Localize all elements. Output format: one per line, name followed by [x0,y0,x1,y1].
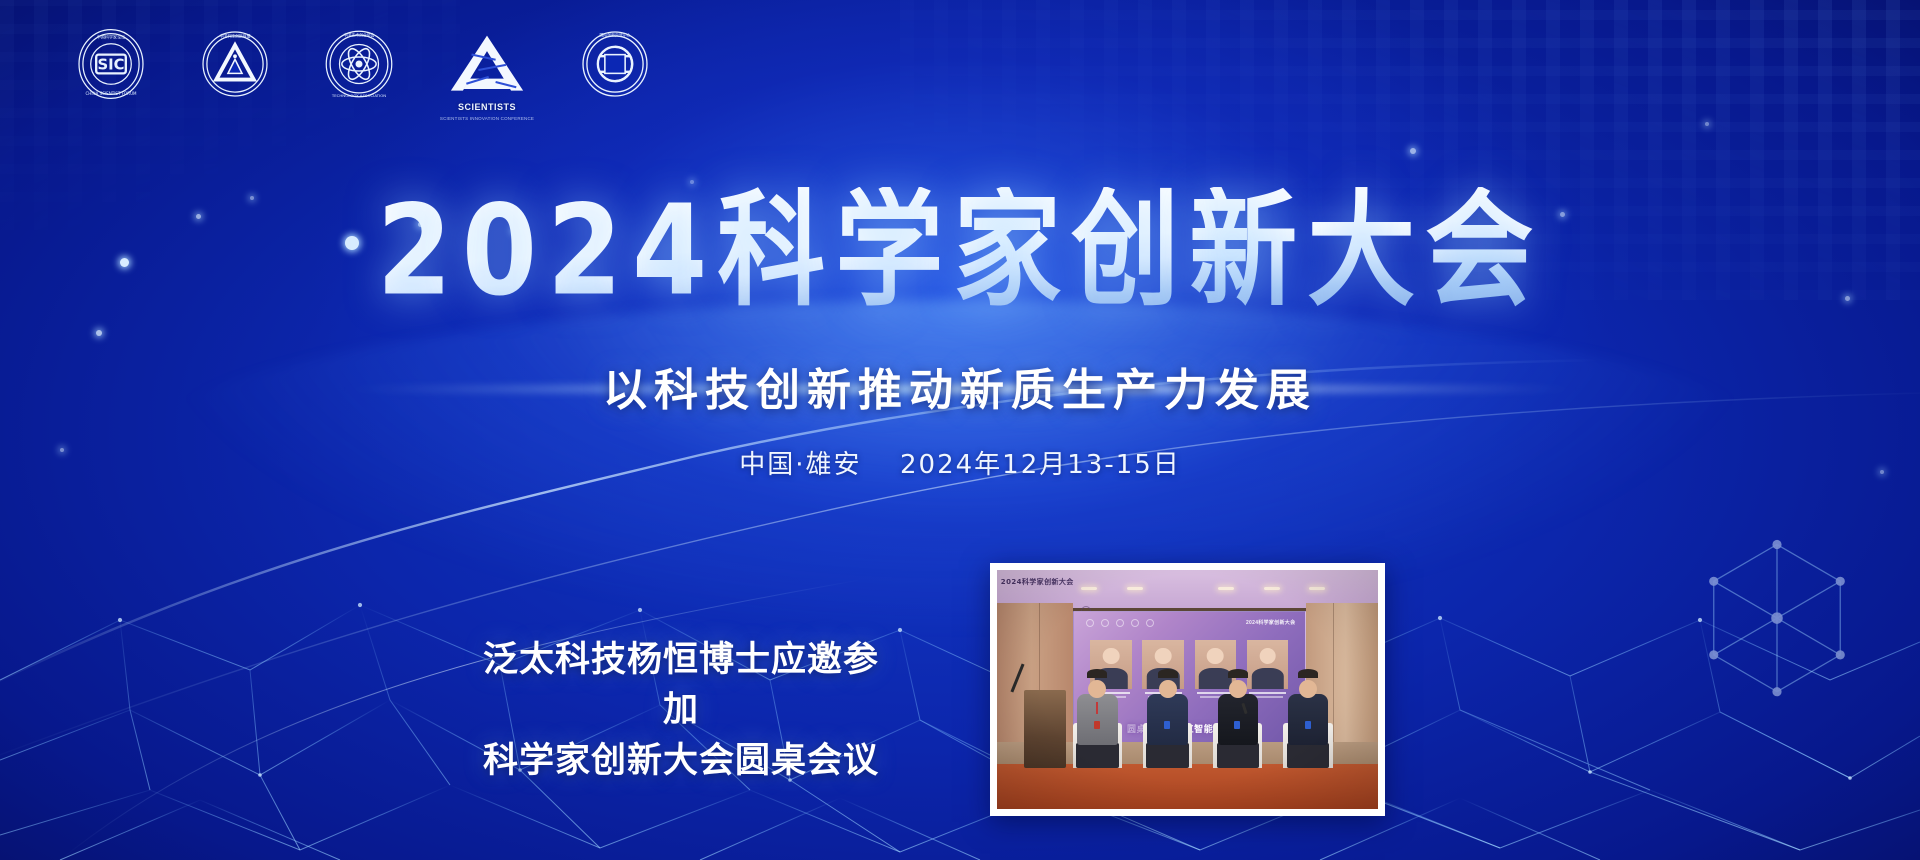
photo-vignette [997,570,1378,809]
roundtable-photo: 2024科学家创新大会 2024科学家创新大会 圆桌讨论：人工智能助力新质 [997,570,1378,809]
event-date: 2024年12月13-15日 [900,450,1181,480]
page-title: 2024科学家创新大会 [371,187,1550,317]
sponsor-wordmark-triangle-icon: SCIENTISTS SCIENTISTS INNOVATION CONFERE… [444,18,530,110]
event-caption: 泛太科技杨恒博士应邀参加 科学家创新大会圆桌会议 [466,636,896,787]
title-block: 2024科学家创新大会 以科技创新推动新质生产力发展 中国·雄安 2024年12… [0,196,1920,481]
svg-text:中国科技创新联盟: 中国科技创新联盟 [219,33,250,38]
conference-banner: SIC 中国科学家论坛 CHINA SCIENTIST FORUM 中国科技创新… [0,0,1920,860]
organizer-seal-atom-icon: 中国技术创业协会 TECHNOLOGY ASSOCIATION [320,25,398,103]
svg-text:CHINA SCIENTIST FORUM: CHINA SCIENTIST FORUM [85,91,137,96]
svg-text:TECHNOLOGY ASSOCIATION: TECHNOLOGY ASSOCIATION [331,93,386,98]
event-meta: 中国·雄安 2024年12月13-15日 [0,444,1920,481]
roundtable-photo-frame: 2024科学家创新大会 2024科学家创新大会 圆桌讨论：人工智能助力新质 [990,563,1385,816]
sponsor-wordmark-label: SCIENTISTS [444,102,530,112]
svg-text:中国科学家论坛: 中国科学家论坛 [97,33,125,39]
svg-text:中国技术创业协会: 中国技术创业协会 [343,33,374,38]
svg-text:SIC: SIC [97,56,124,73]
page-subtitle: 以科技创新推动新质生产力发展 [0,354,1920,418]
event-location: 中国·雄安 [739,450,861,480]
caption-line-1: 泛太科技杨恒博士应邀参加 [466,636,896,735]
organizer-logo-row: SIC 中国科学家论坛 CHINA SCIENTIST FORUM 中国科技创新… [72,18,654,110]
molecule-decoration-icon [1662,510,1892,740]
organizer-seal-triangle-icon: 中国科技创新联盟 [196,25,274,103]
organizer-seal-globe-icon: 国际创新交流中心 [576,25,654,103]
svg-text:国际创新交流中心: 国际创新交流中心 [599,33,630,38]
organizer-seal-sic-icon: SIC 中国科学家论坛 CHINA SCIENTIST FORUM [72,25,150,103]
sponsor-wordmark-sublabel: SCIENTISTS INNOVATION CONFERENCE [434,116,540,121]
caption-line-2: 科学家创新大会圆桌会议 [466,737,896,787]
